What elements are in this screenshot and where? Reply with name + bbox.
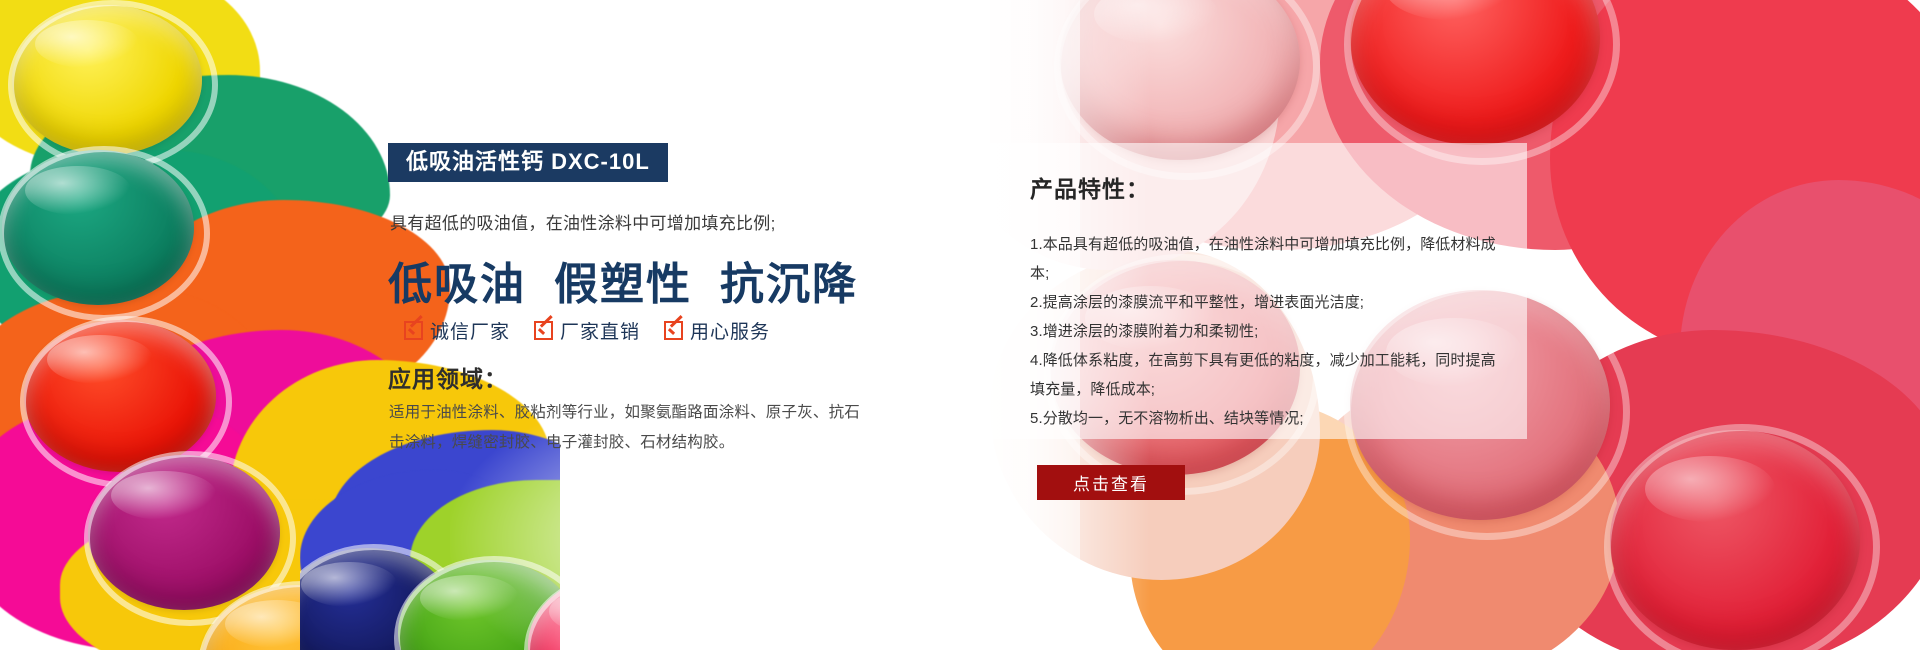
headline-keywords: 低吸油假塑性抗沉降 (388, 248, 858, 312)
headline-word-3: 抗沉降 (720, 259, 858, 310)
headline-word-1: 低吸油 (388, 259, 526, 310)
features-panel-content: 产品特性： 1.本品具有超低的吸油值，在油性涂料中可增加填充比例，降低材料成本;… (1030, 170, 1500, 433)
trust-badges: 诚信厂家 厂家直销 用心服务 (404, 317, 770, 344)
features-list: 1.本品具有超低的吸油值，在油性涂料中可增加填充比例，降低材料成本; 2.提高涂… (1030, 230, 1500, 433)
checkbox-checked-icon (664, 321, 683, 340)
feature-item: 1.本品具有超低的吸油值，在油性涂料中可增加填充比例，降低材料成本; (1030, 230, 1500, 288)
features-panel-title: 产品特性： (1030, 170, 1500, 204)
checkbox-checked-icon (534, 321, 553, 340)
trust-badge-item: 厂家直销 (534, 317, 640, 344)
trust-badge-label: 厂家直销 (560, 317, 640, 344)
trust-badge-label: 用心服务 (690, 317, 770, 344)
view-details-button[interactable]: 点击查看 (1037, 465, 1185, 500)
feature-item: 5.分散均一，无不溶物析出、结块等情况; (1030, 404, 1500, 433)
application-body: 适用于油性涂料、胶粘剂等行业，如聚氨酯路面涂料、原子灰、抗石击涂料，焊缝密封胶、… (389, 398, 864, 458)
headline-word-2: 假塑性 (554, 259, 692, 310)
trust-badge-item: 用心服务 (664, 317, 770, 344)
product-badge: 低吸油活性钙 DXC-10L (388, 143, 668, 182)
left-content-column: 低吸油活性钙 DXC-10L 具有超低的吸油值，在油性涂料中可增加填充比例; 低… (388, 0, 968, 650)
checkbox-checked-icon (404, 321, 423, 340)
feature-item: 4.降低体系粘度，在高剪下具有更低的粘度，减少加工能耗，同时提高填充量，降低成本… (1030, 346, 1500, 404)
trust-badge-item: 诚信厂家 (404, 317, 510, 344)
feature-item: 2.提高涂层的漆膜流平和平整性，增进表面光洁度; (1030, 288, 1500, 317)
product-banner: 低吸油活性钙 DXC-10L 具有超低的吸油值，在油性涂料中可增加填充比例; 低… (0, 0, 1920, 650)
trust-badge-label: 诚信厂家 (430, 317, 510, 344)
application-title: 应用领域： (388, 360, 508, 394)
feature-item: 3.增进涂层的漆膜附着力和柔韧性; (1030, 317, 1500, 346)
product-subline: 具有超低的吸油值，在油性涂料中可增加填充比例; (390, 209, 776, 234)
